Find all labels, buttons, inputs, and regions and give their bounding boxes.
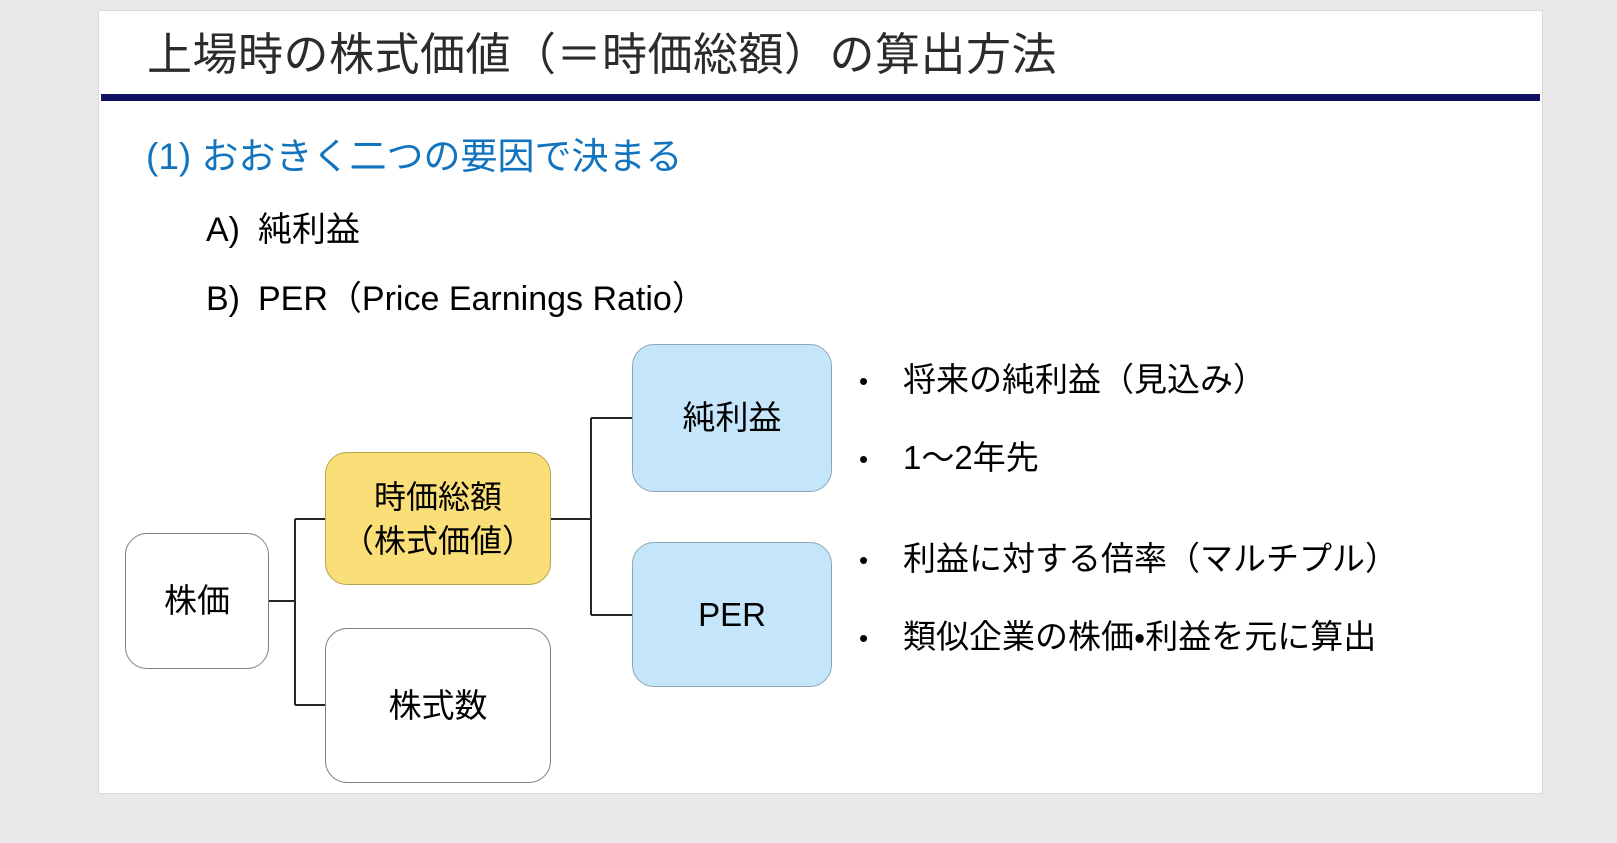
annotation-list-junrieki: • 将来の純利益（見込み） • 1〜2年先 <box>859 358 1266 514</box>
bullet-text: 類似企業の株価・利益を元に算出 <box>903 615 1376 659</box>
diagram-node-per-label: PER <box>698 593 766 637</box>
bullet-dot-icon: • <box>859 537 903 583</box>
list-item: • 1〜2年先 <box>859 436 1266 482</box>
list-item-a: A)純利益 <box>206 208 360 252</box>
title-underline-rule <box>101 94 1540 101</box>
bullet-dot-icon: • <box>859 436 903 482</box>
diagram-node-jikasougaku-line1: 時価総額 <box>342 475 534 519</box>
diagram-node-kabushikisu[interactable]: 株式数 <box>325 628 551 783</box>
list-item-b-marker: B) <box>206 277 258 321</box>
diagram-node-kabuka-label: 株価 <box>164 579 230 623</box>
list-item: • 将来の純利益（見込み） <box>859 358 1266 404</box>
list-item-b-label: PER（Price Earnings Ratio） <box>258 280 706 318</box>
diagram-node-kabuka[interactable]: 株価 <box>125 533 269 669</box>
bullet-dot-icon: • <box>859 358 903 404</box>
diagram-node-kabushikisu-label: 株式数 <box>389 684 488 728</box>
diagram-node-junrieki[interactable]: 純利益 <box>632 344 832 492</box>
bullet-text: 将来の純利益（見込み） <box>903 358 1266 402</box>
list-item: • 類似企業の株価・利益を元に算出 <box>859 615 1398 661</box>
bullet-text: 利益に対する倍率（マルチプル） <box>903 537 1398 581</box>
list-item-a-marker: A) <box>206 208 258 252</box>
annotation-list-per: • 利益に対する倍率（マルチプル） • 類似企業の株価・利益を元に算出 <box>859 537 1398 693</box>
diagram-node-junrieki-label: 純利益 <box>683 396 782 440</box>
list-item: • 利益に対する倍率（マルチプル） <box>859 537 1398 583</box>
page-title: 上場時の株式価値（＝時価総額）の算出方法 <box>147 25 1057 85</box>
diagram-node-jikasougaku-line2: （株式価値） <box>342 519 534 563</box>
section-heading: (1) おおきく二つの要因で決まる <box>146 133 683 181</box>
bullet-dot-icon: • <box>859 615 903 661</box>
diagram-node-jikasougaku[interactable]: 時価総額 （株式価値） <box>325 452 551 585</box>
bullet-text: 1〜2年先 <box>903 436 1039 480</box>
slide-viewer: 上場時の株式価値（＝時価総額）の算出方法 (1) おおきく二つの要因で決まる A… <box>0 0 1617 843</box>
list-item-b: B)PER（Price Earnings Ratio） <box>206 277 706 321</box>
diagram-node-per[interactable]: PER <box>632 542 832 687</box>
slide-canvas: 上場時の株式価値（＝時価総額）の算出方法 (1) おおきく二つの要因で決まる A… <box>99 11 1542 793</box>
list-item-a-label: 純利益 <box>258 211 360 249</box>
